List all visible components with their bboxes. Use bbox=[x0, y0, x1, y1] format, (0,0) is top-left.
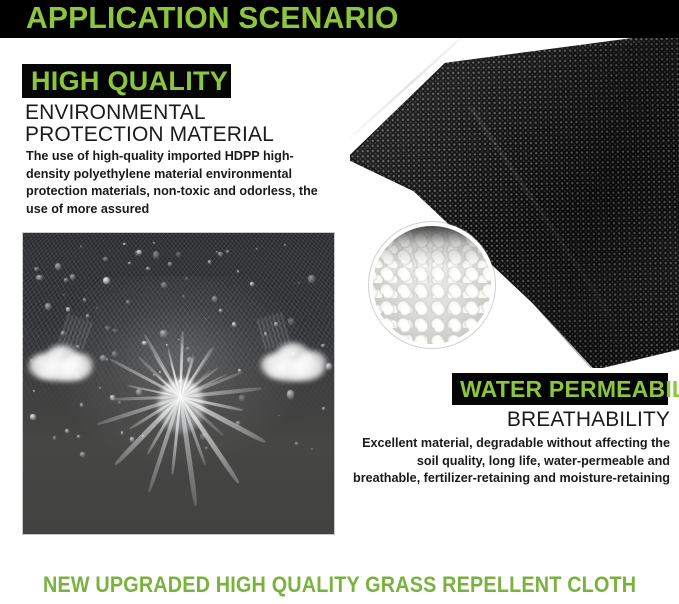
badge-high-quality-label: HIGH QUALITY bbox=[31, 68, 228, 95]
pellet-inset-circle bbox=[369, 222, 495, 348]
badge-high-quality: HIGH QUALITY bbox=[22, 64, 231, 98]
bottom-tagline: NEW UPGRADED HIGH QUALITY GRASS REPELLEN… bbox=[0, 572, 679, 598]
application-scenario-infographic: APPLICATION SCENARIO HIGH QUALITY ENVIRO… bbox=[0, 0, 679, 604]
fabric-photo bbox=[350, 38, 679, 368]
badge-water-permeability: WATER PERMEABILITY bbox=[452, 373, 668, 405]
subheading-breathability: BREATHABILITY bbox=[340, 409, 670, 431]
badge-water-permeability-label: WATER PERMEABILITY bbox=[460, 378, 679, 401]
bottom-tagline-text: NEW UPGRADED HIGH QUALITY GRASS REPELLEN… bbox=[43, 572, 636, 598]
subheading-environmental-protection: ENVIRONMENTAL PROTECTION MATERIAL bbox=[25, 102, 345, 146]
splash-background bbox=[23, 233, 334, 534]
water-splash-photo bbox=[22, 232, 335, 535]
body-copy-high-quality: The use of high-quality imported HDPP hi… bbox=[26, 148, 334, 218]
hdpe-pellets bbox=[369, 222, 495, 348]
body-copy-water-permeability: Excellent material, degradable without a… bbox=[352, 435, 670, 488]
header-bar: APPLICATION SCENARIO bbox=[0, 0, 679, 38]
page-title: APPLICATION SCENARIO bbox=[26, 0, 399, 37]
